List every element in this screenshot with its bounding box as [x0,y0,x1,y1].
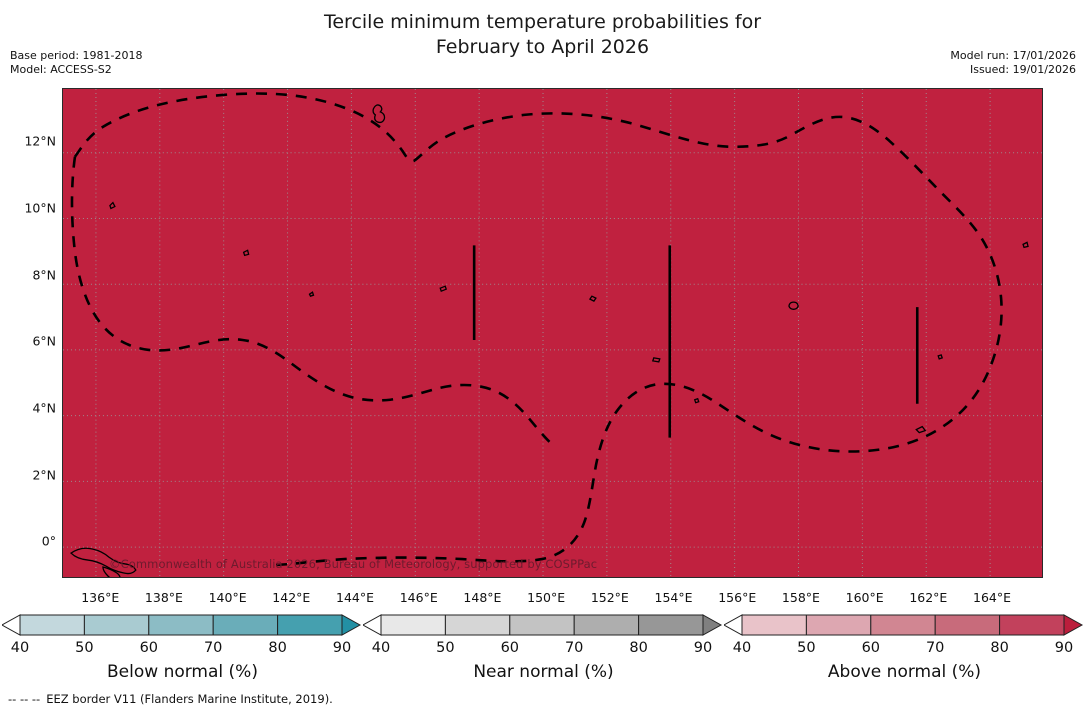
model-metadata-right: Model run: 17/01/2026 Issued: 19/01/2026 [950,49,1076,77]
y-tick-label: 0° [42,534,56,549]
page-title: Tercile minimum temperature probabilitie… [0,10,1085,60]
map-plot-area: ©Commonwealth of Australia 2026, Bureau … [62,88,1043,578]
y-tick-label: 10°N [24,201,56,216]
x-tick-label: 138°E [145,590,183,605]
x-tick-label: 136°E [81,590,119,605]
base-period-label: Base period: 1981-2018 [10,49,142,63]
colorbar-tick-label: 50 [436,640,454,656]
colorbar-tick-label: 80 [268,640,286,656]
colorbar-legends: 405060708090Below normal (%)405060708090… [0,612,1085,692]
colorbar-tick-label: 90 [694,640,712,656]
colorbar-tick-label: 50 [75,640,93,656]
colorbar-near-normal: 405060708090Near normal (%) [363,612,724,692]
eez-border-solid-segments [474,245,917,437]
colorbar-tick-labels: 405060708090 [724,640,1085,658]
colorbar-tick-label: 90 [333,640,351,656]
x-tick-label: 148°E [463,590,501,605]
colorbar-title: Below normal (%) [2,662,363,682]
map-attribution: ©Commonwealth of Australia 2026, Bureau … [109,557,597,571]
colorbar-tick-label: 70 [204,640,222,656]
y-tick-label: 8°N [32,267,56,282]
colorbar-tick-label: 70 [926,640,944,656]
x-tick-label: 152°E [591,590,629,605]
colorbar-tick-label: 70 [565,640,583,656]
colorbar-above-normal: 405060708090Above normal (%) [724,612,1085,692]
map-canvas [63,89,1042,577]
colorbar-tick-label: 90 [1055,640,1073,656]
colorbar-tick-label: 60 [140,640,158,656]
colorbar-tick-label: 50 [797,640,815,656]
colorbar-swatches [363,612,724,642]
colorbar-tick-label: 40 [11,640,29,656]
x-tick-label: 154°E [655,590,693,605]
colorbar-tick-label: 80 [629,640,647,656]
eez-dash-sample: -- -- -- [8,692,40,706]
y-axis-tick-labels: 0°2°N4°N6°N8°N10°N12°N [0,88,56,578]
x-tick-label: 156°E [718,590,756,605]
footer-text: EEZ border V11 (Flanders Marine Institut… [46,692,333,706]
colorbar-tick-labels: 405060708090 [363,640,724,658]
colorbar-tick-label: 40 [733,640,751,656]
colorbar-title: Near normal (%) [363,662,724,682]
eez-border-dashed [72,94,1002,566]
colorbar-tick-label: 60 [862,640,880,656]
map-gridlines [63,89,1042,577]
colorbar-tick-label: 40 [372,640,390,656]
x-tick-label: 158°E [782,590,820,605]
x-tick-label: 164°E [973,590,1011,605]
model-label: Model: ACCESS-S2 [10,63,142,77]
colorbar-tick-labels: 405060708090 [2,640,363,658]
y-tick-label: 4°N [32,401,56,416]
island-outlines [71,105,1028,577]
model-run-label: Model run: 17/01/2026 [950,49,1076,63]
colorbar-swatches [724,612,1085,642]
x-axis-tick-labels: 136°E138°E140°E142°E144°E146°E148°E150°E… [62,590,1043,610]
model-metadata-left: Base period: 1981-2018 Model: ACCESS-S2 [10,49,142,77]
y-tick-label: 12°N [24,134,56,149]
y-tick-label: 6°N [32,334,56,349]
colorbar-tick-label: 60 [501,640,519,656]
x-tick-label: 162°E [909,590,947,605]
x-tick-label: 142°E [272,590,310,605]
x-tick-label: 150°E [527,590,565,605]
colorbar-title: Above normal (%) [724,662,1085,682]
colorbar-below-normal: 405060708090Below normal (%) [2,612,363,692]
x-tick-label: 146°E [400,590,438,605]
x-tick-label: 144°E [336,590,374,605]
issued-label: Issued: 19/01/2026 [950,63,1076,77]
footer-legend-note: -- -- -- EEZ border V11 (Flanders Marine… [8,692,333,706]
x-tick-label: 160°E [846,590,884,605]
y-tick-label: 2°N [32,467,56,482]
colorbar-swatches [2,612,363,642]
x-tick-label: 140°E [209,590,247,605]
colorbar-tick-label: 80 [990,640,1008,656]
